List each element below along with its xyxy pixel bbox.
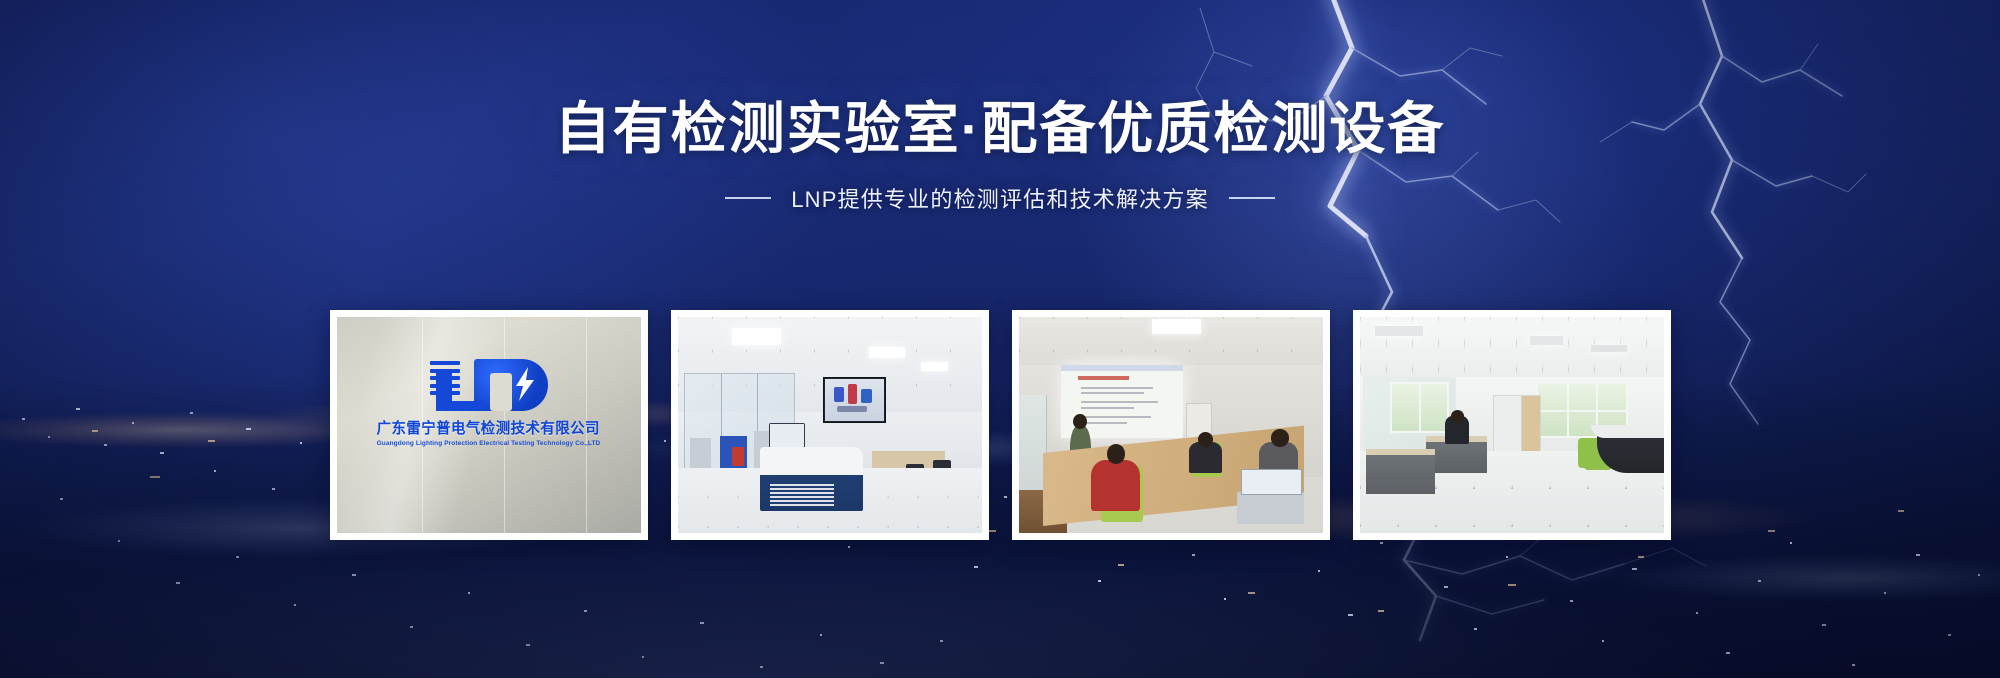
- hero-banner: 自有检测实验室·配备优质检测设备 LNP提供专业的检测评估和技术解决方案: [0, 0, 2000, 678]
- wall-monitor-screen: [823, 377, 886, 422]
- person-head: [1107, 444, 1125, 463]
- rule-right-icon: [1229, 197, 1275, 199]
- ceiling-light: [869, 347, 905, 358]
- logo-n-notch: [490, 373, 512, 411]
- office-desk-top: [1366, 449, 1436, 455]
- person-attendee: [1189, 442, 1222, 472]
- subtitle-row: LNP提供专业的检测评估和技术解决方案: [0, 182, 2000, 214]
- page-subtitle: LNP提供专业的检测评估和技术解决方案: [791, 182, 1209, 214]
- lnp-logo-icon: [430, 357, 548, 411]
- logo-l-foot: [436, 401, 484, 411]
- hero-copy: 自有检测实验室·配备优质检测设备 LNP提供专业的检测评估和技术解决方案: [0, 96, 2000, 214]
- office-image: [1360, 317, 1664, 533]
- ceiling-vent: [1591, 345, 1627, 351]
- page-title: 自有检测实验室·配备优质检测设备: [0, 96, 2000, 162]
- ceiling-light: [732, 328, 781, 345]
- testing-lab-image: [678, 317, 982, 533]
- ceiling-light: [921, 362, 948, 371]
- laptop: [1237, 492, 1304, 524]
- office-desk: [1366, 451, 1436, 494]
- photo-gallery: 广东雷宁普电气检测技术有限公司 Guangdong Lighting Prote…: [0, 310, 2000, 540]
- company-sign-image: 广东雷宁普电气检测技术有限公司 Guangdong Lighting Prote…: [337, 317, 641, 533]
- ceiling-vent: [1375, 326, 1424, 337]
- person-head: [1451, 410, 1465, 423]
- gallery-photo-office[interactable]: [1353, 310, 1671, 540]
- gallery-photo-training-meeting[interactable]: [1012, 310, 1330, 540]
- rule-left-icon: [725, 197, 771, 199]
- person-head: [1198, 432, 1213, 447]
- company-name-cn: 广东雷宁普电气检测技术有限公司: [377, 417, 600, 438]
- office-counter-top: [1591, 425, 1664, 438]
- training-meeting-image: [1019, 317, 1323, 533]
- ceiling-light: [1152, 319, 1201, 334]
- office-shelf: [1521, 395, 1541, 457]
- person-attendee: [1091, 460, 1140, 512]
- office-window: [1390, 382, 1449, 434]
- lnp-logo-block: 广东雷宁普电气检测技术有限公司 Guangdong Lighting Prote…: [337, 357, 641, 447]
- company-name-en: Guangdong Lighting Protection Electrical…: [377, 440, 601, 447]
- ceiling-vent: [1530, 336, 1563, 345]
- gallery-photo-company-sign[interactable]: 广东雷宁普电气检测技术有限公司 Guangdong Lighting Prote…: [330, 310, 648, 540]
- person-head: [1271, 429, 1289, 446]
- lab-equipment: [732, 447, 744, 466]
- gallery-photo-testing-lab[interactable]: [671, 310, 989, 540]
- control-console: [760, 447, 863, 512]
